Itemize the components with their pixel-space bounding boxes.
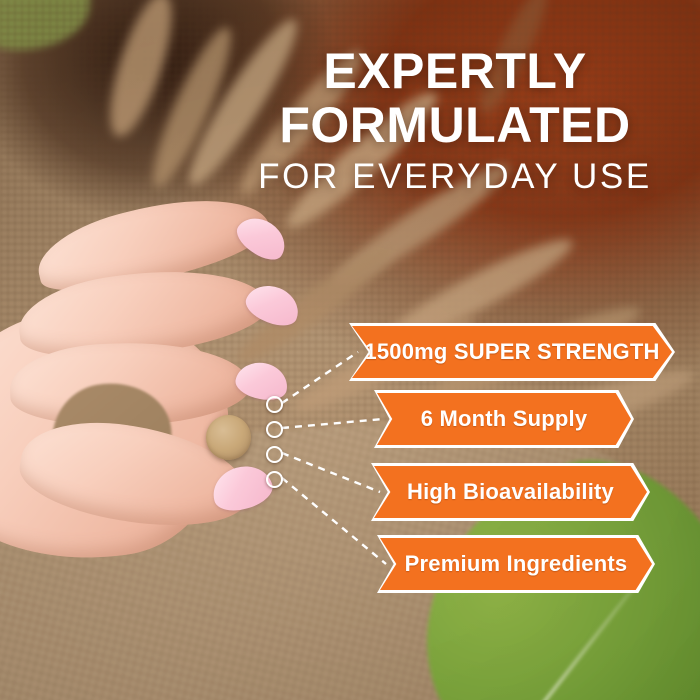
feature-badge[interactable]: High Bioavailability [371, 463, 650, 521]
feature-badge-fill: 1500mg SUPER STRENGTH [352, 326, 672, 378]
feature-badge[interactable]: 1500mg SUPER STRENGTH [349, 323, 675, 381]
feature-badge-list: 1500mg SUPER STRENGTH6 Month SupplyHigh … [0, 0, 700, 700]
feature-badge-label: Premium Ingredients [405, 551, 628, 577]
feature-badge[interactable]: Premium Ingredients [377, 535, 655, 593]
feature-badge-fill: Premium Ingredients [380, 538, 652, 590]
feature-badge-fill: 6 Month Supply [377, 393, 631, 445]
feature-badge-fill: High Bioavailability [374, 466, 647, 518]
feature-badge-label: High Bioavailability [407, 479, 614, 505]
feature-badge-label: 6 Month Supply [421, 406, 588, 432]
feature-badge[interactable]: 6 Month Supply [374, 390, 634, 448]
promo-image: EXPERTLY FORMULATED FOR EVERYDAY USE 150… [0, 0, 700, 700]
feature-badge-label: 1500mg SUPER STRENGTH [364, 339, 659, 365]
